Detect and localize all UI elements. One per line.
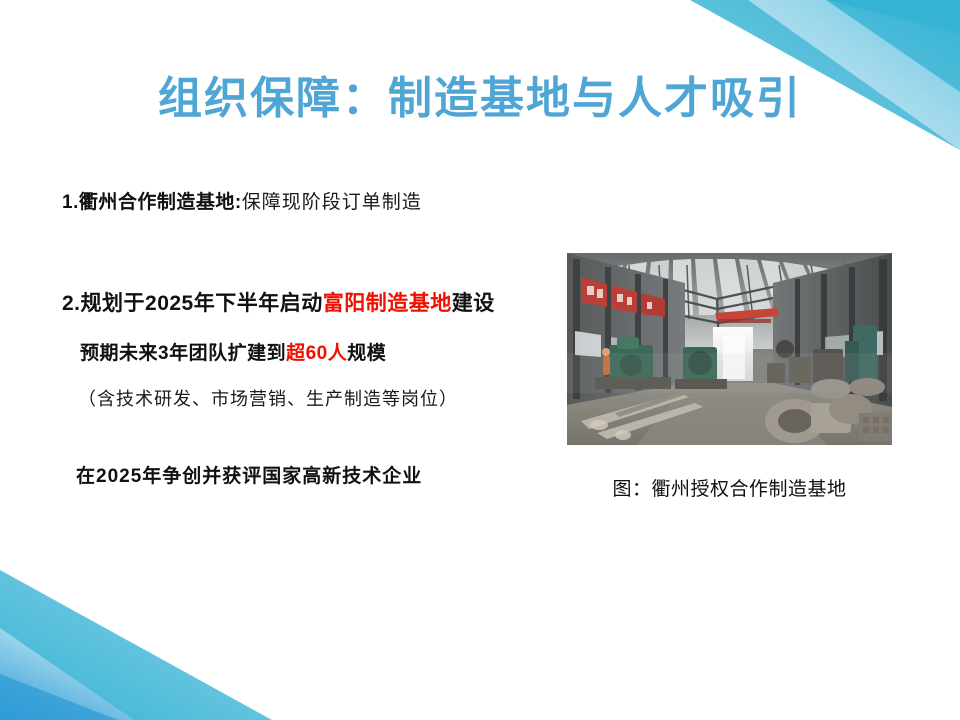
bullet-item-2-sub2: （含技术研发、市场营销、生产制造等岗位） xyxy=(78,386,562,412)
bullet-item-1: 1.衢州合作制造基地:保障现阶段订单制造 xyxy=(62,190,562,216)
bullet-item-2: 2.规划于2025年下半年启动富阳制造基地建设 xyxy=(62,290,562,318)
factory-photo xyxy=(567,253,892,445)
bullet-item-1-label: 1.衢州合作制造基地: xyxy=(62,192,242,213)
bullet-item-2-suffix: 建设 xyxy=(452,292,495,315)
bullet-item-3: 在2025年争创并获评国家高新技术企业 xyxy=(76,464,562,490)
bullet-item-2-highlight: 富阳制造基地 xyxy=(323,292,452,315)
slide-body: 1.衢州合作制造基地:保障现阶段订单制造 2.规划于2025年下半年启动富阳制造… xyxy=(62,190,562,490)
presentation-slide: 组织保障：制造基地与人才吸引 1.衢州合作制造基地:保障现阶段订单制造 2.规划… xyxy=(0,0,960,720)
bullet-item-2-sub1: 预期未来3年团队扩建到超60人规模 xyxy=(80,340,562,368)
bullet-item-1-text: 保障现阶段订单制造 xyxy=(242,192,422,213)
photo-caption: 图：衢州授权合作制造基地 xyxy=(567,474,892,501)
sub1-highlight: 超60人 xyxy=(286,343,347,364)
sub1-prefix: 预期未来3年团队扩建到 xyxy=(80,343,286,364)
slide-title: 组织保障：制造基地与人才吸引 xyxy=(0,62,960,126)
sub1-suffix: 规模 xyxy=(347,343,386,364)
bullet-item-2-prefix: 2.规划于2025年下半年启动 xyxy=(62,292,323,315)
bottom-left-decoration xyxy=(0,570,330,720)
factory-photo-image xyxy=(567,253,892,445)
